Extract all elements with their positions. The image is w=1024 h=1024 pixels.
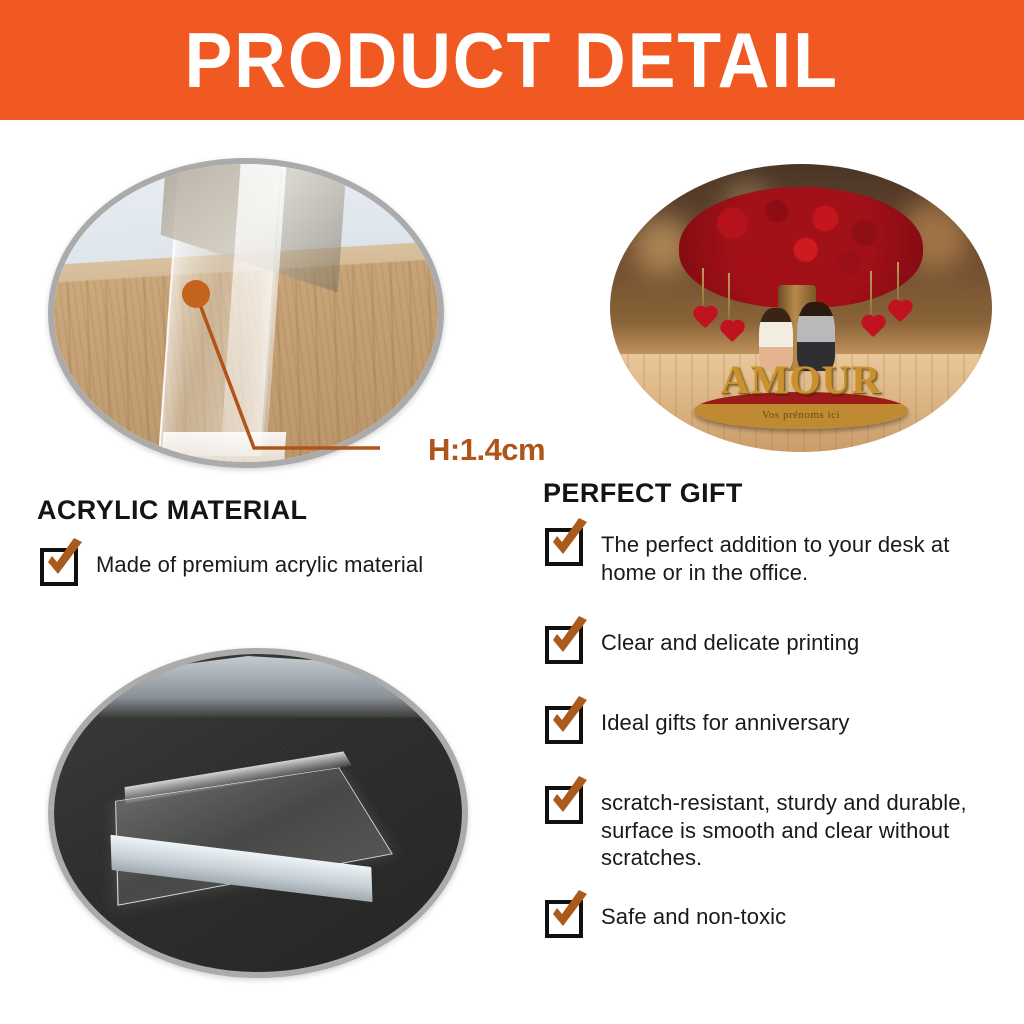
heart-string	[897, 262, 899, 304]
checkbox-checked-icon	[545, 524, 587, 566]
feature-item: Ideal gifts for anniversary	[545, 702, 1000, 744]
checkmark-icon	[543, 694, 595, 746]
checkbox-checked-icon	[545, 782, 587, 824]
section-title-acrylic: ACRYLIC MATERIAL	[37, 495, 307, 526]
heart-string	[870, 271, 872, 321]
acrylic-block-photo-inner	[54, 654, 462, 972]
feature-text: Made of premium acrylic material	[96, 544, 423, 579]
checkbox-checked-icon	[545, 896, 587, 938]
page-title: PRODUCT DETAIL	[185, 21, 839, 99]
hanging-heart-icon	[722, 322, 743, 343]
acrylic-edge-photo	[48, 158, 444, 468]
feature-text: Ideal gifts for anniversary	[601, 702, 849, 737]
product-detail-infographic: PRODUCT DETAIL	[0, 0, 1024, 1024]
hanging-heart-icon	[863, 316, 884, 337]
feature-item: scratch-resistant, sturdy and durable, s…	[545, 782, 1010, 872]
acrylic-block-photo	[48, 648, 468, 978]
acrylic-edge-photo-inner	[54, 164, 438, 462]
checkmark-icon	[543, 774, 595, 826]
base-engraving-text: Vos prénoms ici	[694, 409, 908, 421]
slate-surface	[54, 654, 462, 972]
feature-text: The perfect addition to your desk at hom…	[601, 524, 1000, 586]
checkmark-icon	[38, 536, 90, 588]
checkbox-checked-icon	[40, 544, 82, 586]
height-label: H:1.4cm	[428, 432, 545, 468]
wood-scene	[54, 164, 438, 462]
product-render-photo: AMOUR Vos prénoms ici	[604, 158, 998, 458]
amour-lettering: AMOUR	[713, 360, 889, 400]
feature-item: Safe and non-toxic	[545, 896, 1000, 938]
product-render-inner: AMOUR Vos prénoms ici	[610, 164, 992, 452]
feature-text: Clear and delicate printing	[601, 622, 859, 657]
hanging-heart-icon	[890, 302, 911, 323]
feature-item: Clear and delicate printing	[545, 622, 1000, 664]
section-title-perfect-gift: PERFECT GIFT	[543, 478, 743, 509]
checkbox-checked-icon	[545, 622, 587, 664]
feature-text: scratch-resistant, sturdy and durable, s…	[601, 782, 1010, 872]
checkmark-icon	[543, 888, 595, 940]
acrylic-slab-foot	[160, 432, 285, 462]
checkmark-icon	[543, 614, 595, 666]
hanging-heart-icon	[695, 308, 716, 329]
feature-text: Safe and non-toxic	[601, 896, 786, 931]
feature-item: The perfect addition to your desk at hom…	[545, 524, 1000, 586]
header-banner: PRODUCT DETAIL	[0, 0, 1024, 120]
checkbox-checked-icon	[545, 702, 587, 744]
feature-item: Made of premium acrylic material	[40, 544, 520, 586]
slate-back-edge	[87, 654, 438, 718]
checkmark-icon	[543, 516, 595, 568]
product-scene-background: AMOUR Vos prénoms ici	[610, 164, 992, 452]
